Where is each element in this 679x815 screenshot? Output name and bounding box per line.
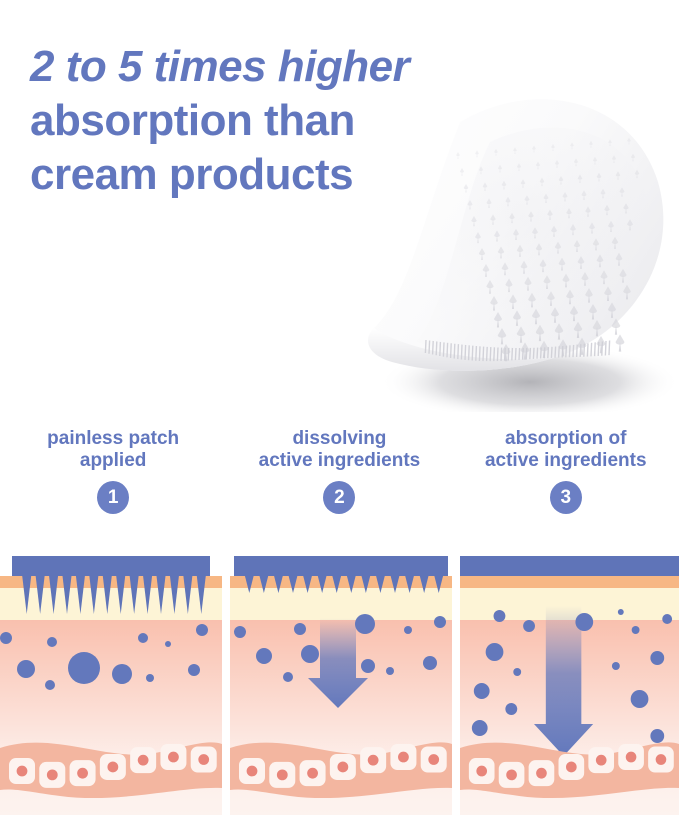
cell-nucleus	[337, 762, 348, 773]
stratum-layer	[230, 588, 452, 620]
active-ingredient-particle	[386, 667, 394, 675]
skin-panel-1	[0, 556, 222, 815]
microneedle-patch-image: {"rows":13,"cols":11}	[340, 62, 679, 412]
skin-panel-2	[230, 556, 452, 815]
cell-nucleus	[536, 768, 547, 779]
cell-nucleus	[506, 769, 517, 780]
active-ingredient-particle	[505, 703, 517, 715]
patch-bar	[12, 556, 210, 576]
cell-nucleus	[626, 752, 637, 763]
active-ingredient-particle	[472, 720, 488, 736]
cell-nucleus	[198, 754, 209, 765]
active-ingredient-particle	[523, 620, 535, 632]
epidermis-layer	[460, 576, 679, 588]
active-ingredient-particle	[294, 623, 306, 635]
cell-nucleus	[596, 755, 607, 766]
active-ingredient-particle	[631, 690, 649, 708]
active-ingredient-particle	[112, 664, 132, 684]
active-ingredient-particle	[662, 614, 672, 624]
active-ingredient-particle	[423, 656, 437, 670]
active-ingredient-particle	[404, 626, 412, 634]
cell-nucleus	[168, 752, 179, 763]
active-ingredient-particle	[612, 662, 620, 670]
cell-nucleus	[77, 768, 88, 779]
step-2-title: dissolving active ingredients	[259, 428, 421, 472]
step-2: dissolving active ingredients 2	[226, 428, 452, 544]
step-2-badge: 2	[323, 481, 355, 514]
active-ingredient-particle	[650, 729, 664, 743]
step-3: absorption of active ingredients 3	[453, 428, 679, 544]
active-ingredient-particle	[146, 674, 154, 682]
active-ingredient-particle	[45, 680, 55, 690]
cell-nucleus	[566, 762, 577, 773]
active-ingredient-particle	[256, 648, 272, 664]
cell-nucleus	[476, 766, 487, 777]
step-1-title: painless patch applied	[47, 428, 179, 472]
poster-canvas: 2 to 5 times higher absorption than crea…	[0, 0, 679, 815]
active-ingredient-particle	[575, 613, 593, 631]
patch-bar	[234, 556, 448, 576]
active-ingredient-particle	[513, 668, 521, 676]
active-ingredient-particle	[632, 626, 640, 634]
step-3-title: absorption of active ingredients	[485, 428, 647, 472]
step-1: painless patch applied 1	[0, 428, 226, 544]
cell-nucleus	[277, 769, 288, 780]
active-ingredient-particle	[434, 616, 446, 628]
cell-nucleus	[307, 768, 318, 779]
active-ingredient-particle	[234, 626, 246, 638]
active-ingredient-particle	[47, 637, 57, 647]
step-1-badge: 1	[97, 481, 129, 514]
skin-diagram-row	[0, 556, 679, 815]
cell-nucleus	[138, 755, 149, 766]
active-ingredient-particle	[138, 633, 148, 643]
active-ingredient-particle	[0, 632, 12, 644]
step-3-badge: 3	[550, 481, 582, 514]
cell-nucleus	[17, 766, 28, 777]
active-ingredient-particle	[17, 660, 35, 678]
active-ingredient-particle	[494, 610, 506, 622]
cell-nucleus	[247, 766, 258, 777]
active-ingredient-particle	[68, 652, 100, 684]
cell-nucleus	[47, 769, 58, 780]
step-caption-row: painless patch applied 1 dissolving acti…	[0, 428, 679, 544]
cell-nucleus	[107, 762, 118, 773]
cell-nucleus	[368, 755, 379, 766]
cell-nucleus	[656, 754, 667, 765]
active-ingredient-particle	[165, 641, 171, 647]
active-ingredient-particle	[650, 651, 664, 665]
active-ingredient-particle	[301, 645, 319, 663]
active-ingredient-particle	[618, 609, 624, 615]
active-ingredient-particle	[486, 643, 504, 661]
active-ingredient-particle	[196, 624, 208, 636]
active-ingredient-particle	[283, 672, 293, 682]
active-ingredient-particle	[361, 659, 375, 673]
patch-bar	[460, 556, 679, 576]
cell-nucleus	[398, 752, 409, 763]
cell-nucleus	[428, 754, 439, 765]
active-ingredient-particle	[188, 664, 200, 676]
active-ingredient-particle	[474, 683, 490, 699]
active-ingredient-particle	[355, 614, 375, 634]
skin-panel-3	[460, 556, 679, 815]
